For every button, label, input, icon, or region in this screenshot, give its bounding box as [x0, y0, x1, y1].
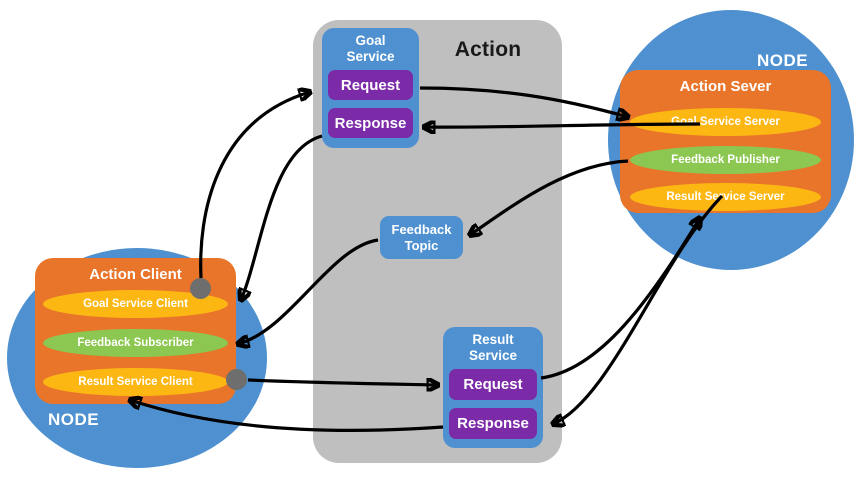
action-panel-title: Action [442, 38, 534, 62]
node-label-client: NODE [48, 410, 99, 430]
diagram-canvas: Action NODE Action Sever Goal Service Se… [0, 0, 854, 480]
result-service-response[interactable]: Response [449, 408, 537, 439]
goal-service-response[interactable]: Response [328, 108, 413, 138]
result-service-request[interactable]: Request [449, 369, 537, 400]
result-service-box: Result Service Request Response [443, 327, 543, 448]
result-connector-dot [226, 369, 247, 390]
result-service-title: Result Service [443, 332, 543, 364]
feedback-topic-line1: Feedback [392, 222, 452, 238]
goal-service-request[interactable]: Request [328, 70, 413, 100]
action-server-title: Action Sever [620, 78, 831, 95]
arrow-goal-response-to-client [241, 136, 322, 300]
goal-service-title: Goal Service [322, 33, 419, 65]
feedback-topic-box[interactable]: Feedback Topic [380, 216, 463, 259]
action-server-box: Action Sever Goal Service Server Feedbac… [620, 70, 831, 213]
goal-service-title-line1: Goal [355, 33, 385, 48]
goal-service-server-pill[interactable]: Goal Service Server [630, 108, 821, 136]
feedback-topic-line2: Topic [405, 238, 439, 254]
result-service-server-pill[interactable]: Result Service Server [630, 183, 821, 211]
result-service-client-pill[interactable]: Result Service Client [43, 368, 228, 396]
feedback-subscriber-pill[interactable]: Feedback Subscriber [43, 329, 228, 357]
node-label-server: NODE [757, 51, 808, 71]
result-service-title-line1: Result [472, 332, 513, 347]
result-service-title-line2: Service [469, 348, 517, 363]
feedback-publisher-pill[interactable]: Feedback Publisher [630, 146, 821, 174]
goal-connector-dot [190, 278, 211, 299]
arrow-goal-client-to-request [201, 92, 310, 278]
goal-service-box: Goal Service Request Response [322, 28, 419, 148]
goal-service-title-line2: Service [346, 49, 394, 64]
